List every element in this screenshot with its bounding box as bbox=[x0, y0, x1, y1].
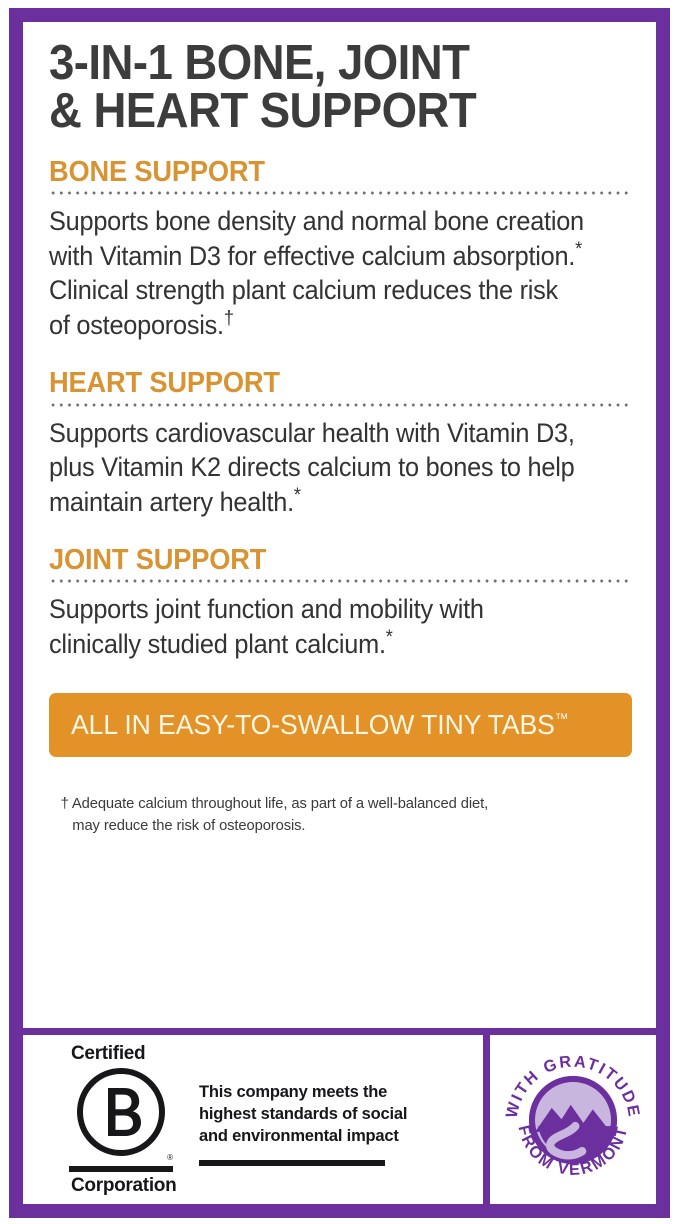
tiny-tabs-banner: ALL IN EASY-TO-SWALLOW TINY TABS™ bbox=[49, 693, 632, 757]
page-title: 3-IN-1 BONE, JOINT & HEART SUPPORT bbox=[49, 40, 591, 135]
bcorp-certified-label: Certified bbox=[71, 1043, 145, 1065]
section-heading-heart: HEART SUPPORT bbox=[49, 368, 597, 398]
section-heading-bone: BONE SUPPORT bbox=[49, 157, 597, 187]
section-body-heart: Supports cardiovascular health with Vita… bbox=[49, 416, 606, 519]
dagger-marker: † bbox=[224, 308, 234, 329]
bcorp-circle-b-icon: ® bbox=[75, 1066, 167, 1163]
section-body-joint-text: Supports joint function and mobility wit… bbox=[49, 594, 484, 658]
bcorp-certification-block: Certified ® Corporation This company bbox=[23, 1035, 483, 1204]
bcorp-rule bbox=[69, 1166, 173, 1172]
registered-trademark-icon: ® bbox=[167, 1153, 173, 1162]
bcorp-statement-rule bbox=[199, 1160, 385, 1166]
bcorp-corporation-label: Corporation bbox=[71, 1175, 176, 1197]
vermont-gratitude-seal-icon: WITH GRATITUDE FROM VERMONT bbox=[497, 1044, 649, 1196]
section-body-bone-text-2: Clinical strength plant calcium reduces … bbox=[49, 275, 558, 339]
footnote-dagger: † Adequate calcium throughout life, as p… bbox=[49, 793, 615, 837]
asterisk-marker: * bbox=[575, 239, 582, 260]
bcorp-lockup: Certified ® Corporation This company bbox=[69, 1043, 407, 1197]
section-body-joint: Supports joint function and mobility wit… bbox=[49, 592, 606, 661]
label-content: 3-IN-1 BONE, JOINT & HEART SUPPORT BONE … bbox=[23, 22, 656, 1028]
certification-strip: Certified ® Corporation This company bbox=[23, 1028, 656, 1204]
tiny-tabs-banner-label: ALL IN EASY-TO-SWALLOW TINY TABS bbox=[71, 709, 555, 740]
supplement-label-panel: 3-IN-1 BONE, JOINT & HEART SUPPORT BONE … bbox=[0, 0, 679, 1224]
section-body-heart-text: Supports cardiovascular health with Vita… bbox=[49, 418, 575, 517]
trademark-icon: ™ bbox=[555, 712, 569, 728]
section-heart-support: HEART SUPPORT Supports cardiovascular he… bbox=[49, 368, 632, 519]
dotted-divider bbox=[49, 403, 632, 407]
section-body-bone-text: Supports bone density and normal bone cr… bbox=[49, 206, 584, 270]
asterisk-marker: * bbox=[386, 627, 393, 648]
purple-bordered-frame: 3-IN-1 BONE, JOINT & HEART SUPPORT BONE … bbox=[9, 8, 670, 1218]
dotted-divider bbox=[49, 579, 632, 583]
dotted-divider bbox=[49, 191, 632, 195]
bcorp-statement-block: This company meets the highest standards… bbox=[199, 1043, 407, 1166]
asterisk-marker: * bbox=[294, 485, 301, 506]
section-bone-support: BONE SUPPORT Supports bone density and n… bbox=[49, 157, 632, 342]
section-body-bone: Supports bone density and normal bone cr… bbox=[49, 204, 606, 342]
vermont-seal-block: WITH GRATITUDE FROM VERMONT bbox=[483, 1035, 656, 1204]
bcorp-statement-text: This company meets the highest standards… bbox=[199, 1081, 407, 1147]
tiny-tabs-banner-text: ALL IN EASY-TO-SWALLOW TINY TABS™ bbox=[71, 709, 569, 741]
section-joint-support: JOINT SUPPORT Supports joint function an… bbox=[49, 545, 632, 661]
bcorp-mark: Certified ® Corporation bbox=[69, 1043, 173, 1197]
section-heading-joint: JOINT SUPPORT bbox=[49, 545, 597, 575]
